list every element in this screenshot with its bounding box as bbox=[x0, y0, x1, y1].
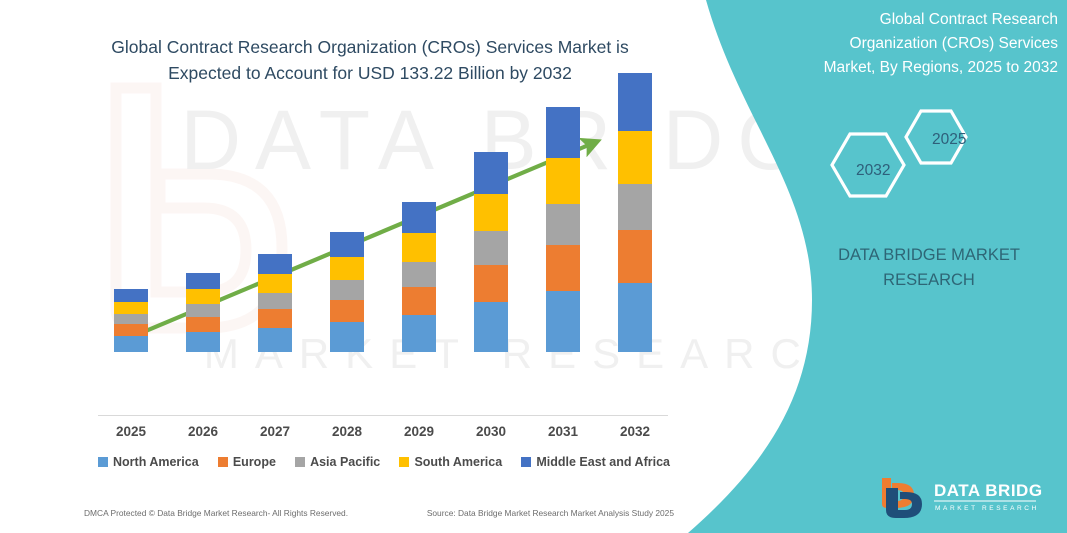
bar-segment bbox=[474, 152, 508, 193]
hexagon-outlines bbox=[820, 100, 1060, 210]
bar-segment bbox=[114, 324, 148, 336]
x-axis-label-2025: 2025 bbox=[95, 424, 167, 439]
infographic-root: DATA BRIDGE MARKET RESEARCH Global Contr… bbox=[0, 0, 1067, 533]
chart-legend: North AmericaEuropeAsia PacificSouth Ame… bbox=[98, 455, 670, 469]
bar-segment bbox=[330, 280, 364, 300]
bar-segment bbox=[258, 274, 292, 292]
footer-source: Source: Data Bridge Market Research Mark… bbox=[427, 508, 674, 518]
bar-segment bbox=[618, 230, 652, 283]
bar-segment bbox=[330, 322, 364, 352]
legend-label: North America bbox=[113, 455, 199, 469]
bar-segment bbox=[186, 317, 220, 332]
bar-segment bbox=[402, 315, 436, 352]
panel-brand-line1: DATA BRIDGE MARKET bbox=[838, 246, 1020, 264]
legend-item-europe[interactable]: Europe bbox=[218, 455, 276, 469]
x-axis-label-2032: 2032 bbox=[599, 424, 671, 439]
bar-segment bbox=[546, 204, 580, 245]
bar-2029 bbox=[402, 202, 436, 352]
bar-segment bbox=[474, 231, 508, 264]
legend-swatch-icon bbox=[295, 457, 305, 467]
bar-segment bbox=[474, 265, 508, 303]
legend-item-middle-east-and-africa[interactable]: Middle East and Africa bbox=[521, 455, 670, 469]
legend-label: Europe bbox=[233, 455, 276, 469]
legend-item-south-america[interactable]: South America bbox=[399, 455, 502, 469]
panel-title-line3: Market, By Regions, 2025 to 2032 bbox=[824, 59, 1058, 76]
bar-segment bbox=[330, 232, 364, 257]
bar-2026 bbox=[186, 273, 220, 352]
legend-item-north-america[interactable]: North America bbox=[98, 455, 199, 469]
hexagon-year-badges: 2025 2032 bbox=[820, 100, 1060, 210]
legend-label: South America bbox=[414, 455, 502, 469]
bar-segment bbox=[402, 233, 436, 261]
x-axis-label-2027: 2027 bbox=[239, 424, 311, 439]
footer-copyright: DMCA Protected © Data Bridge Market Rese… bbox=[84, 508, 348, 518]
bar-segment bbox=[474, 194, 508, 232]
bar-segment bbox=[330, 257, 364, 280]
bar-segment bbox=[114, 314, 148, 324]
panel-title-line2: Organization (CROs) Services bbox=[850, 35, 1058, 52]
bar-segment bbox=[114, 302, 148, 314]
x-axis-label-2030: 2030 bbox=[455, 424, 527, 439]
bar-2030 bbox=[474, 152, 508, 352]
bar-segment bbox=[186, 289, 220, 304]
bar-segment bbox=[618, 283, 652, 352]
bar-segment bbox=[114, 336, 148, 352]
bar-2028 bbox=[330, 232, 364, 352]
bar-segment bbox=[258, 293, 292, 309]
bar-2025 bbox=[114, 289, 148, 352]
bar-segment bbox=[258, 309, 292, 327]
x-axis-label-2031: 2031 bbox=[527, 424, 599, 439]
legend-label: Middle East and Africa bbox=[536, 455, 670, 469]
bar-segment bbox=[618, 73, 652, 131]
legend-label: Asia Pacific bbox=[310, 455, 380, 469]
bar-segment bbox=[546, 158, 580, 204]
panel-brand-text: DATA BRIDGE MARKET RESEARCH bbox=[800, 243, 1058, 293]
x-axis-label-2028: 2028 bbox=[311, 424, 383, 439]
x-axis-label-2026: 2026 bbox=[167, 424, 239, 439]
bar-segment bbox=[546, 107, 580, 158]
legend-item-asia-pacific[interactable]: Asia Pacific bbox=[295, 455, 380, 469]
bar-segment bbox=[546, 245, 580, 291]
logo-text-secondary: MARKET RESEARCH bbox=[935, 505, 1039, 512]
bar-segment bbox=[186, 332, 220, 352]
bar-2032 bbox=[618, 73, 652, 352]
panel-brand-line2: RESEARCH bbox=[883, 271, 975, 289]
bar-2027 bbox=[258, 254, 292, 352]
legend-swatch-icon bbox=[98, 457, 108, 467]
bar-segment bbox=[402, 287, 436, 315]
x-axis-label-2029: 2029 bbox=[383, 424, 455, 439]
data-bridge-logo: DATA BRIDGE MARKET RESEARCH bbox=[872, 474, 1042, 522]
bar-segment bbox=[618, 131, 652, 184]
bar-segment bbox=[402, 262, 436, 287]
bar-2031 bbox=[546, 107, 580, 352]
bar-segment bbox=[258, 254, 292, 274]
panel-title-line1: Global Contract Research bbox=[880, 11, 1058, 28]
bar-segment bbox=[546, 291, 580, 352]
legend-swatch-icon bbox=[521, 457, 531, 467]
bar-segment bbox=[114, 289, 148, 302]
bar-segment bbox=[402, 202, 436, 233]
bar-segment bbox=[474, 302, 508, 352]
bar-segment bbox=[330, 300, 364, 323]
chart-plot-area: 20252026202720282029203020312032 bbox=[0, 0, 710, 470]
bar-segment bbox=[186, 304, 220, 317]
hexagon-start-year-label: 2025 bbox=[932, 131, 966, 149]
logo-text-primary: DATA BRIDGE bbox=[934, 481, 1042, 500]
bar-segment bbox=[258, 328, 292, 352]
x-axis-line bbox=[98, 415, 668, 416]
bar-segment bbox=[618, 184, 652, 231]
footer: DMCA Protected © Data Bridge Market Rese… bbox=[84, 508, 674, 518]
legend-swatch-icon bbox=[218, 457, 228, 467]
bar-segment bbox=[186, 273, 220, 289]
panel-title: Global Contract Research Organization (C… bbox=[790, 8, 1058, 80]
legend-swatch-icon bbox=[399, 457, 409, 467]
hexagon-end-year-label: 2032 bbox=[856, 162, 890, 180]
